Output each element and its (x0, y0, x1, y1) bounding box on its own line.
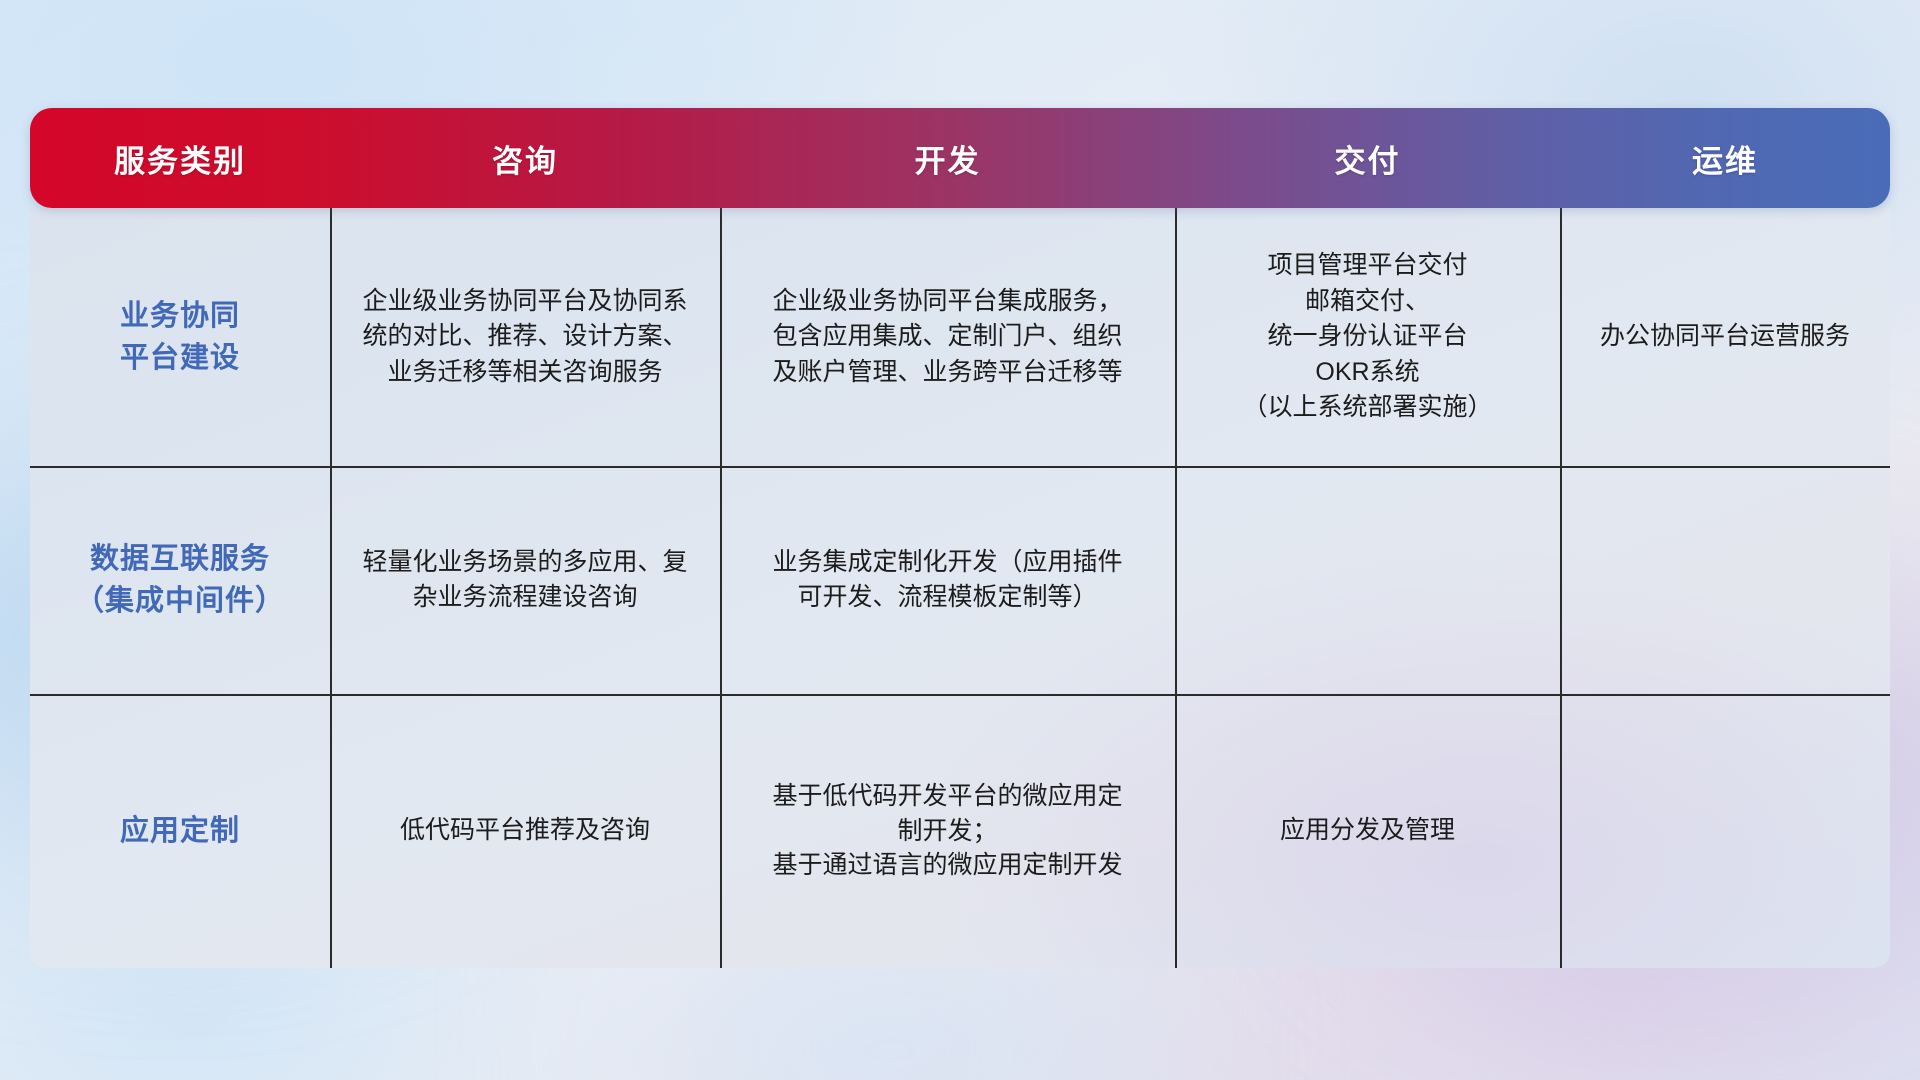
category-label: 数据互联服务 （集成中间件） (75, 538, 285, 622)
cell-delivery: 项目管理平台交付 邮箱交付、 统一身份认证平台 OKR系统 （以上系统部署实施） (1175, 208, 1560, 466)
cell-delivery (1175, 466, 1560, 694)
cell-text: 基于低代码开发平台的微应用定 制开发； 基于通过语言的微应用定制开发 (772, 779, 1122, 883)
category-label: 业务协同 平台建设 (120, 295, 240, 379)
cell-development: 企业级业务协同平台集成服务， 包含应用集成、定制门户、组织 及账户管理、业务跨平… (720, 208, 1175, 466)
column-header-label: 运维 (1692, 136, 1758, 181)
table-row: 业务协同 平台建设 企业级业务协同平台及协同系 统的对比、推荐、设计方案、 业务… (30, 208, 1890, 466)
cell-development: 基于低代码开发平台的微应用定 制开发； 基于通过语言的微应用定制开发 (720, 694, 1175, 968)
category-label: 应用定制 (120, 810, 240, 852)
column-header-consulting: 咨询 (330, 108, 720, 208)
column-header-service-category: 服务类别 (30, 108, 330, 208)
cell-text: 办公协同平台运营服务 (1600, 319, 1850, 355)
cell-consulting: 企业级业务协同平台及协同系 统的对比、推荐、设计方案、 业务迁移等相关咨询服务 (330, 208, 720, 466)
cell-text: 企业级业务协同平台集成服务， 包含应用集成、定制门户、组织 及账户管理、业务跨平… (772, 284, 1122, 391)
cell-consulting: 低代码平台推荐及咨询 (330, 694, 720, 968)
cell-operations: 办公协同平台运营服务 (1560, 208, 1890, 466)
cell-text: 应用分发及管理 (1280, 813, 1455, 849)
column-header-operations: 运维 (1560, 108, 1890, 208)
column-header-label: 开发 (915, 136, 981, 181)
cell-text: 低代码平台推荐及咨询 (400, 813, 650, 849)
column-header-label: 交付 (1335, 136, 1401, 181)
table-row: 数据互联服务 （集成中间件） 轻量化业务场景的多应用、复 杂业务流程建设咨询 业… (30, 466, 1890, 694)
cell-operations (1560, 466, 1890, 694)
cell-category: 应用定制 (30, 694, 330, 968)
cell-operations (1560, 694, 1890, 968)
cell-delivery: 应用分发及管理 (1175, 694, 1560, 968)
cell-category: 数据互联服务 （集成中间件） (30, 466, 330, 694)
service-matrix-table: 服务类别 咨询 开发 交付 运维 业务协同 平台建设 企业级业务协同平台及协同系… (30, 108, 1890, 968)
cell-text: 业务集成定制化开发（应用插件 可开发、流程模板定制等） (772, 545, 1122, 616)
cell-text: 轻量化业务场景的多应用、复 杂业务流程建设咨询 (362, 545, 687, 616)
column-header-development: 开发 (720, 108, 1175, 208)
table-header-row: 服务类别 咨询 开发 交付 运维 (30, 108, 1890, 208)
cell-development: 业务集成定制化开发（应用插件 可开发、流程模板定制等） (720, 466, 1175, 694)
table-row: 应用定制 低代码平台推荐及咨询 基于低代码开发平台的微应用定 制开发； 基于通过… (30, 694, 1890, 968)
cell-text: 企业级业务协同平台及协同系 统的对比、推荐、设计方案、 业务迁移等相关咨询服务 (362, 284, 687, 391)
cell-text: 项目管理平台交付 邮箱交付、 统一身份认证平台 OKR系统 （以上系统部署实施） (1242, 248, 1492, 426)
cell-category: 业务协同 平台建设 (30, 208, 330, 466)
column-header-delivery: 交付 (1175, 108, 1560, 208)
column-header-label: 服务类别 (114, 136, 246, 181)
cell-consulting: 轻量化业务场景的多应用、复 杂业务流程建设咨询 (330, 466, 720, 694)
table-body: 业务协同 平台建设 企业级业务协同平台及协同系 统的对比、推荐、设计方案、 业务… (30, 208, 1890, 968)
column-header-label: 咨询 (492, 136, 558, 181)
